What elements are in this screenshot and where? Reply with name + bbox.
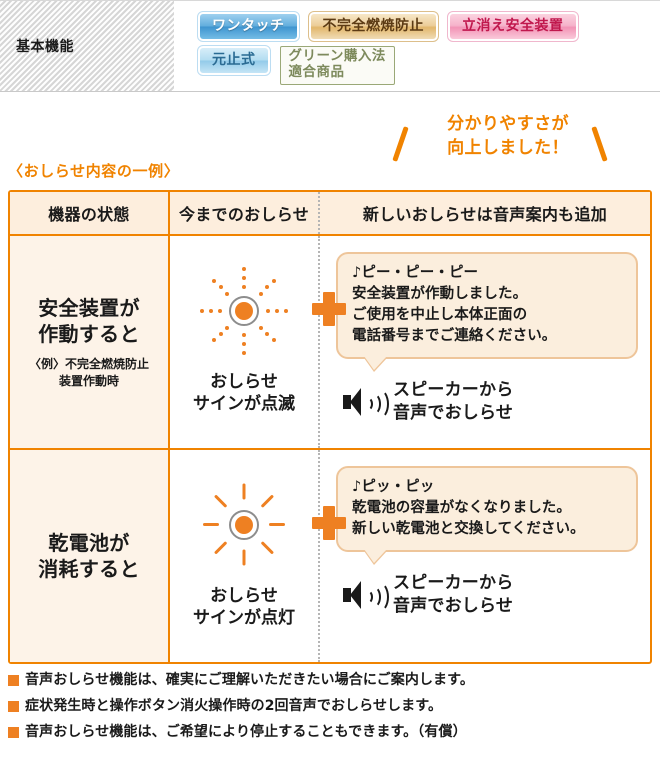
speaker-text-line-2: 音声でおしらせ xyxy=(393,596,513,616)
spec-label-cell: 基本機能 xyxy=(0,1,175,91)
badge-motodome-type: 元止式 xyxy=(198,46,270,75)
speaker-icon xyxy=(342,579,382,611)
state-title-line-1: 乾電池が xyxy=(48,531,129,555)
bubble-line: 電話番号までご連絡ください。 xyxy=(352,326,624,347)
table-row: 乾電池が消耗すると おしらせサインが点灯 ♪ピッ・ピッ 乾電池の容量がなくなりま… xyxy=(10,448,650,662)
notice-sign-lit-icon xyxy=(198,479,290,571)
square-bullet-icon xyxy=(8,701,19,712)
plus-icon xyxy=(312,506,346,540)
footnote-text: 症状発生時と操作ボタン消火操作時の2回音声でおしらせします。 xyxy=(25,698,442,715)
badge-green-line-2: 適合商品 xyxy=(289,64,345,80)
header-new-notice: 新しいおしらせは音声案内も追加 xyxy=(320,192,650,234)
table-row: 安全装置が作動すると 〈例〉不完全燃焼防止装置作動時 おしらせサインが点滅 ♪ピ… xyxy=(10,236,650,448)
footnote-item: 音声おしらせ機能は、ご希望により停止することもできます。（有償） xyxy=(8,724,648,741)
callout-line-2: 向上しました！ xyxy=(418,136,598,160)
footnotes: 音声おしらせ機能は、確実にご理解いただきたい場合にご案内します。 症状発生時と操… xyxy=(8,672,648,749)
callout-text: 分かりやすさが 向上しました！ xyxy=(418,112,598,160)
spec-badges: ワンタッチ 不完全燃焼防止 立消え安全装置 元止式 グリーン購入法適合商品 xyxy=(175,1,660,91)
bubble-line: ご使用を中止し本体正面の xyxy=(352,305,624,326)
previous-caption-line-2: サインが点滅 xyxy=(193,394,295,414)
state-subtitle-line-1: 〈例〉不完全燃焼防止 xyxy=(29,357,149,371)
cell-new-notice: ♪ピッ・ピッ 乾電池の容量がなくなりました。 新しい乾電池と交換してください。 … xyxy=(320,450,650,662)
badge-row-2: 元止式 グリーン購入法適合商品 xyxy=(198,46,660,85)
previous-notice-caption: おしらせサインが点滅 xyxy=(193,371,295,416)
speaker-text: スピーカーから音声でおしらせ xyxy=(393,379,513,425)
callout: 分かりやすさが 向上しました！ xyxy=(392,112,617,168)
cell-device-state: 乾電池が消耗すると xyxy=(10,450,170,662)
state-title-line-1: 安全装置が xyxy=(38,296,140,320)
previous-caption-line-2: サインが点灯 xyxy=(193,608,295,628)
speaker-text-line-2: 音声でおしらせ xyxy=(393,403,513,423)
previous-notice-caption: おしらせサインが点灯 xyxy=(193,585,295,630)
cell-new-notice: ♪ピー・ピー・ピー 安全装置が作動しました。 ご使用を中止し本体正面の 電話番号… xyxy=(320,236,650,448)
callout-slash-left-icon xyxy=(392,126,408,162)
notice-table: 機器の状態 今までのおしらせ 新しいおしらせは音声案内も追加 安全装置が作動する… xyxy=(8,190,652,664)
state-title: 安全装置が作動すると xyxy=(38,295,140,348)
bubble-line: ♪ピッ・ピッ xyxy=(352,477,624,498)
state-title-line-2: 消耗すると xyxy=(38,557,140,581)
footnote-item: 症状発生時と操作ボタン消火操作時の2回音声でおしらせします。 xyxy=(8,698,648,715)
cell-previous-notice: おしらせサインが点滅 xyxy=(170,236,320,448)
state-subtitle: 〈例〉不完全燃焼防止装置作動時 xyxy=(29,356,149,389)
header-device-state: 機器の状態 xyxy=(10,192,170,234)
footnote-item: 音声おしらせ機能は、確実にご理解いただきたい場合にご案内します。 xyxy=(8,672,648,689)
badge-green-line-1: グリーン購入法 xyxy=(289,48,386,64)
spec-label: 基本機能 xyxy=(16,36,74,56)
spec-strip: 基本機能 ワンタッチ 不完全燃焼防止 立消え安全装置 元止式 グリーン購入法適合… xyxy=(0,0,660,92)
state-title-line-2: 作動すると xyxy=(38,322,140,346)
speaker-icon xyxy=(342,386,382,418)
badge-row-1: ワンタッチ 不完全燃焼防止 立消え安全装置 xyxy=(198,12,660,41)
header-previous-notice: 今までのおしらせ xyxy=(170,192,320,234)
square-bullet-icon xyxy=(8,727,19,738)
bubble-line: ♪ピー・ピー・ピー xyxy=(352,263,624,284)
footnote-text: 音声おしらせ機能は、確実にご理解いただきたい場合にご案内します。 xyxy=(25,672,474,689)
callout-line-1: 分かりやすさが xyxy=(418,112,598,136)
state-title: 乾電池が消耗すると xyxy=(38,530,140,583)
speaker-text-line-1: スピーカーから xyxy=(393,573,513,593)
speaker-text: スピーカーから音声でおしらせ xyxy=(393,572,513,618)
footnote-text: 音声おしらせ機能は、ご希望により停止することもできます。（有償） xyxy=(25,724,467,741)
notice-sign-blinking-icon xyxy=(198,265,290,357)
speaker-announcement-row: スピーカーから音声でおしらせ xyxy=(336,379,638,425)
badge-green-purchasing-law: グリーン購入法適合商品 xyxy=(280,46,395,85)
voice-message-bubble: ♪ピー・ピー・ピー 安全装置が作動しました。 ご使用を中止し本体正面の 電話番号… xyxy=(336,252,638,359)
sign-core-icon xyxy=(229,296,259,326)
voice-message-bubble: ♪ピッ・ピッ 乾電池の容量がなくなりました。 新しい乾電池と交換してください。 xyxy=(336,466,638,552)
speaker-text-line-1: スピーカーから xyxy=(393,380,513,400)
bubble-line: 新しい乾電池と交換してください。 xyxy=(352,519,624,540)
badge-incomplete-combustion-prevention: 不完全燃焼防止 xyxy=(309,12,439,41)
previous-caption-line-1: おしらせ xyxy=(210,586,278,606)
plus-icon xyxy=(312,292,346,326)
bubble-line: 乾電池の容量がなくなりました。 xyxy=(352,498,624,519)
previous-caption-line-1: おしらせ xyxy=(210,372,278,392)
square-bullet-icon xyxy=(8,675,19,686)
badge-one-touch: ワンタッチ xyxy=(198,12,299,41)
cell-previous-notice: おしらせサインが点灯 xyxy=(170,450,320,662)
section-heading: 〈おしらせ内容の一例〉 xyxy=(8,160,179,181)
badge-flame-failure-safety-device: 立消え安全装置 xyxy=(448,12,578,41)
table-header-row: 機器の状態 今までのおしらせ 新しいおしらせは音声案内も追加 xyxy=(10,192,650,236)
sign-core-icon xyxy=(229,510,259,540)
speaker-announcement-row: スピーカーから音声でおしらせ xyxy=(336,572,638,618)
state-subtitle-line-2: 装置作動時 xyxy=(59,374,119,388)
bubble-line: 安全装置が作動しました。 xyxy=(352,284,624,305)
cell-device-state: 安全装置が作動すると 〈例〉不完全燃焼防止装置作動時 xyxy=(10,236,170,448)
